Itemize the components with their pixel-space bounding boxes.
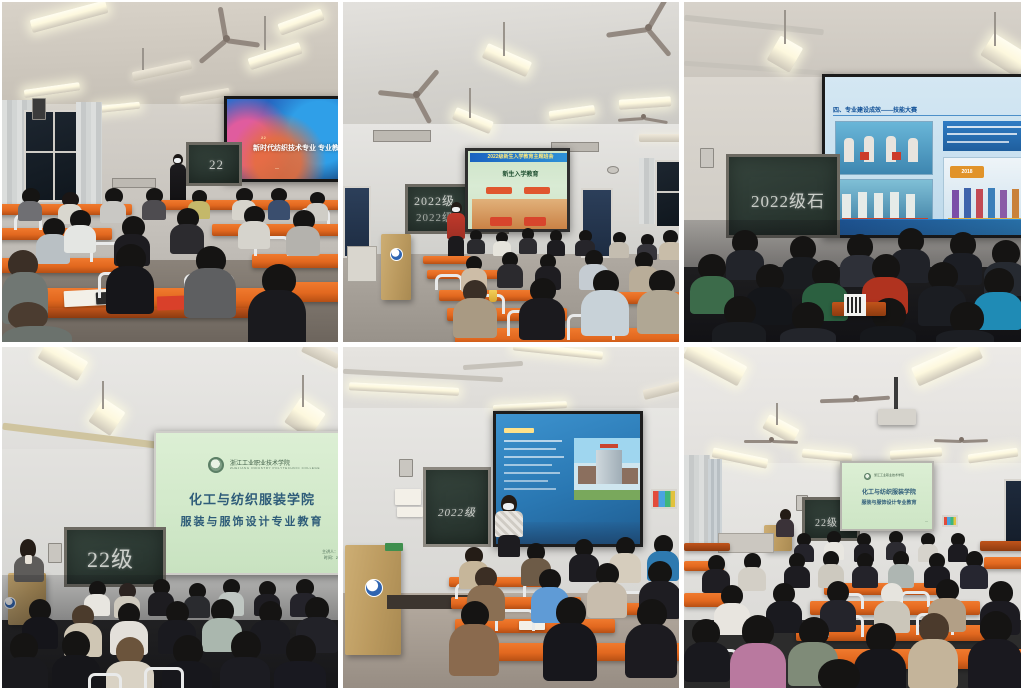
slide-campus-photo xyxy=(574,438,640,500)
student xyxy=(547,230,565,254)
projector-screen: 2022级新生入学教育主题班会 新生入学教育 xyxy=(465,148,570,232)
student xyxy=(274,635,326,688)
student xyxy=(18,188,42,218)
desk xyxy=(684,543,730,551)
door xyxy=(1004,479,1021,549)
student xyxy=(519,228,537,252)
slide-rule xyxy=(833,115,1021,116)
student xyxy=(609,232,629,256)
student xyxy=(2,302,72,342)
light-pendant xyxy=(503,22,505,56)
student xyxy=(106,244,154,310)
student xyxy=(238,206,270,246)
wall-vent xyxy=(373,130,431,142)
student xyxy=(100,188,126,218)
instructor xyxy=(170,154,186,206)
student xyxy=(908,613,958,685)
panel-top-right: 四、专业建设成效——技能大赛 xyxy=(684,2,1021,342)
presenter xyxy=(495,495,523,555)
projector-screen: 四、专业建设成效——技能大赛 xyxy=(822,74,1021,238)
chair xyxy=(88,673,122,688)
student xyxy=(738,553,766,587)
red-booklet xyxy=(157,295,187,310)
student xyxy=(712,296,766,342)
qr-code-paper xyxy=(844,294,866,316)
wall-notice xyxy=(397,507,423,517)
slide-chip xyxy=(524,217,546,226)
slide-footnote: — xyxy=(275,165,279,170)
wall-speaker xyxy=(607,166,619,174)
blackboard-text: 2022级石 xyxy=(751,187,825,212)
slide-line-2: 服装与服饰设计专业教育 xyxy=(842,499,934,506)
wall-notice xyxy=(395,489,421,505)
slide-headline: 新时代纺织技术专业 专业教育 xyxy=(253,143,338,153)
chair xyxy=(144,667,184,688)
slide-photo xyxy=(472,199,569,229)
wall-vent xyxy=(112,178,156,188)
slide-accent xyxy=(227,99,338,179)
slide-heading-bar xyxy=(504,428,534,433)
curtain xyxy=(76,102,102,206)
light-pendant xyxy=(776,403,778,425)
student xyxy=(581,270,629,332)
collage-cell-top-right: 四、专业建设成效——技能大赛 xyxy=(682,0,1024,345)
student xyxy=(220,631,270,688)
student xyxy=(702,555,730,589)
school-crest-icon xyxy=(390,248,403,261)
collage-cell-top-left: 22 新时代纺织技术专业 专业教育 — 22 xyxy=(0,0,341,345)
slide-headline: 四、专业建设成效——技能大赛 xyxy=(833,105,917,114)
blackboard: 2022级 xyxy=(423,467,491,547)
projector-mount xyxy=(894,377,898,411)
status-monitor xyxy=(942,515,958,527)
panel-top-middle: 2022级 2022级 2022级新生入学教育主题班会 新生入学教育 xyxy=(343,2,679,342)
slide-logo-text: 浙江工业职业技术学院 xyxy=(874,473,904,477)
slide-footer: 主讲人： 时间：2 xyxy=(322,549,338,561)
collage-cell-bottom-left: 浙江工业职业技术学院 ZHEJIANG INDUSTRY POLYTECHNIC… xyxy=(0,345,341,691)
ceiling-fan xyxy=(936,433,988,447)
student xyxy=(64,210,96,250)
light-pendant xyxy=(302,375,304,407)
curtain xyxy=(684,455,710,547)
ceiling-fan xyxy=(385,84,447,104)
slide-line-2: 服装与服饰设计专业教育 xyxy=(156,513,338,529)
student xyxy=(780,302,836,342)
status-monitor xyxy=(651,489,677,509)
slide-line-1: 化工与纺织服装学院 xyxy=(842,487,934,496)
ceiling-fan xyxy=(615,16,679,38)
cabinet xyxy=(347,246,377,282)
panel-bottom-left: 浙江工业职业技术学院 ZHEJIANG INDUSTRY POLYTECHNIC… xyxy=(2,347,338,688)
student xyxy=(286,210,320,252)
student xyxy=(818,551,844,585)
wall-speaker xyxy=(32,98,46,120)
slide-eyebrow: 22 xyxy=(261,135,266,140)
light-pendant xyxy=(102,381,104,409)
presenter xyxy=(447,202,465,260)
light-pendant xyxy=(994,12,996,46)
projector-screen: 浙江工业职业技术学院 ZHEJIANG INDUSTRY POLYTECHNIC… xyxy=(154,431,338,575)
podium xyxy=(381,234,411,300)
student xyxy=(804,659,874,688)
slide-logo-subtext: ZHEJIANG INDUSTRY POLYTECHNIC COLLEGE xyxy=(230,466,320,470)
student xyxy=(888,551,914,585)
student xyxy=(2,633,48,688)
student xyxy=(730,615,786,688)
blackboard-text: 22级 xyxy=(87,542,134,574)
curtain xyxy=(639,158,655,224)
student xyxy=(936,302,994,342)
slide-chip xyxy=(486,187,512,194)
ceiling-projector xyxy=(878,409,916,425)
ceiling-light xyxy=(639,134,679,142)
blackboard: 22 xyxy=(186,142,242,186)
student xyxy=(968,611,1021,688)
student xyxy=(493,232,511,254)
slide-textbox xyxy=(943,121,1021,151)
desk xyxy=(980,541,1021,551)
student xyxy=(449,601,499,673)
school-crest-icon xyxy=(365,579,383,597)
ceiling-fan xyxy=(746,433,798,447)
slide-line-1: 化工与纺织服装学院 xyxy=(156,489,338,508)
student xyxy=(684,619,730,679)
projector-screen: 浙江工业职业技术学院 化工与纺织服装学院 服装与服饰设计专业教育 — xyxy=(840,461,934,531)
panel-bottom-right: 22级 浙江工业职业技术学院 化工与纺织服装学院 服装与服饰设计专业教育 — xyxy=(684,347,1021,688)
light-pendant xyxy=(142,48,144,70)
student xyxy=(625,599,677,675)
light-pendant xyxy=(784,10,786,44)
presenter xyxy=(776,509,794,537)
slide-banner: 2022级新生入学教育主题班会 xyxy=(470,153,570,162)
student xyxy=(142,188,166,216)
student xyxy=(784,553,810,585)
slide-chip xyxy=(524,187,550,194)
collage-cell-bottom-right: 22级 浙江工业职业技术学院 化工与纺织服装学院 服装与服饰设计专业教育 — xyxy=(682,345,1024,691)
student xyxy=(467,230,485,252)
student xyxy=(659,230,679,258)
light-pendant xyxy=(469,88,471,118)
photo-collage: 22 新时代纺织技术专业 专业教育 — 22 xyxy=(0,0,1024,691)
ceiling-fan xyxy=(621,110,667,124)
student xyxy=(184,246,236,314)
student xyxy=(248,264,306,342)
podium-marker xyxy=(385,543,403,551)
blackboard-text: 2022级 xyxy=(438,504,476,520)
light-pendant xyxy=(264,16,266,50)
school-logo-icon xyxy=(864,473,871,480)
student xyxy=(543,597,597,677)
student xyxy=(453,280,497,334)
student xyxy=(170,208,204,250)
panel-bottom-middle: 2022级 xyxy=(343,347,679,688)
student xyxy=(519,278,565,336)
panel-top-left: 22 新时代纺织技术专业 专业教育 — 22 xyxy=(2,2,338,342)
school-logo-icon xyxy=(208,457,224,473)
blackboard-text: 22级 xyxy=(815,514,838,529)
slide-chip xyxy=(490,217,512,226)
wall-control-box xyxy=(48,543,62,563)
wall-control-box xyxy=(700,148,714,168)
blackboard-text: 22 xyxy=(209,157,224,173)
wall-control-box xyxy=(399,459,413,477)
student xyxy=(637,270,679,330)
window xyxy=(655,160,679,228)
ceiling-fan xyxy=(198,28,254,48)
collage-cell-bottom-middle: 2022级 xyxy=(341,345,682,691)
slide-headline: 新生入学教育 xyxy=(468,169,570,178)
collage-cell-top-middle: 2022级 2022级 2022级新生入学教育主题班会 新生入学教育 xyxy=(341,0,682,345)
ceiling-fan xyxy=(824,389,888,407)
slide-photo-award xyxy=(835,121,933,175)
desk xyxy=(984,557,1021,569)
